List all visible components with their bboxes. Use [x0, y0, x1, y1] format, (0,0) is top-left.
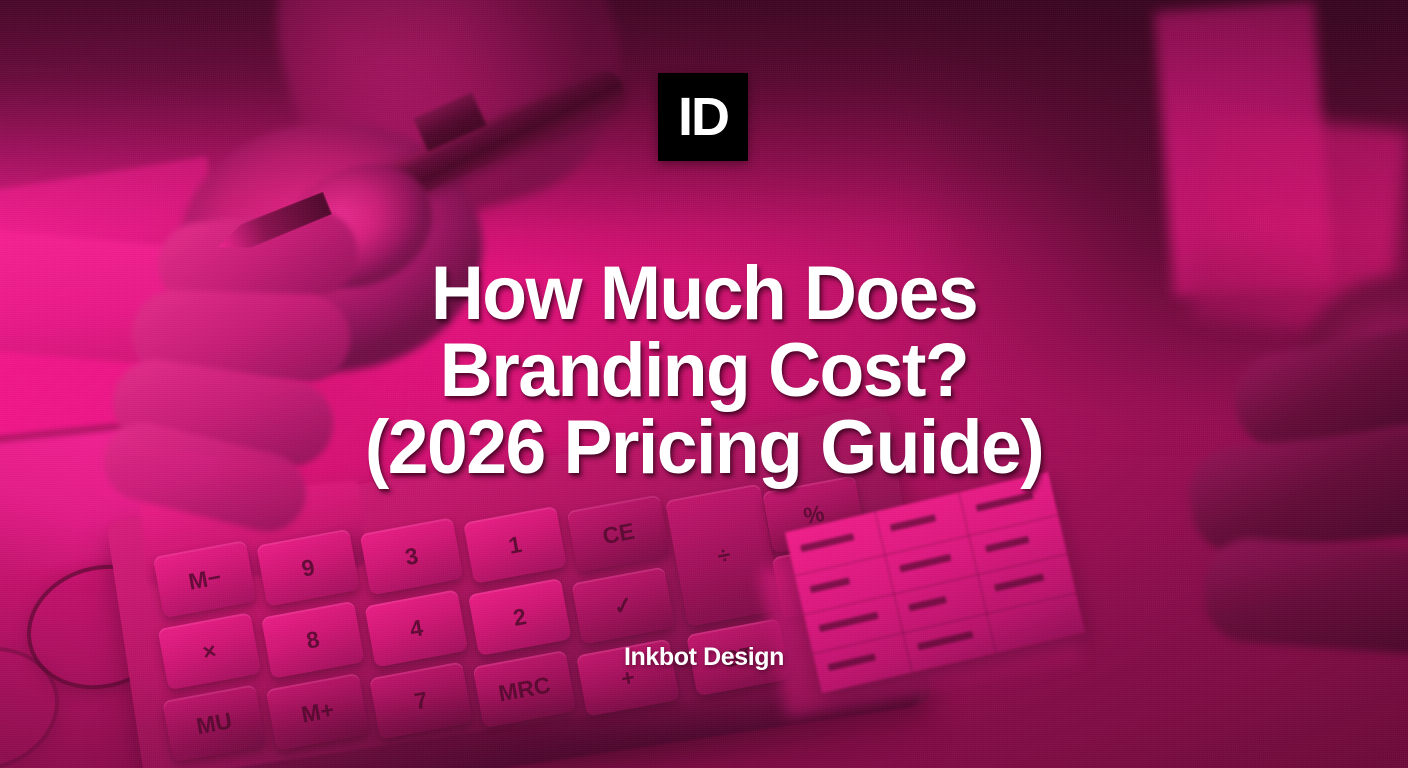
page-title: How Much Does Branding Cost? (2026 Prici… [25, 255, 1384, 486]
title-line-3: (2026 Pricing Guide) [25, 409, 1384, 486]
logo-text: ID [678, 90, 728, 144]
title-line-1: How Much Does [25, 255, 1384, 332]
brand-byline: Inkbot Design [0, 643, 1408, 672]
logo-badge: ID [658, 73, 748, 161]
featured-image-canvas: M− 9 3 1 CE × 8 4 2 ✓ MU M+ 7 MRC + ÷ GT [0, 0, 1408, 768]
title-line-2: Branding Cost? [25, 332, 1384, 409]
